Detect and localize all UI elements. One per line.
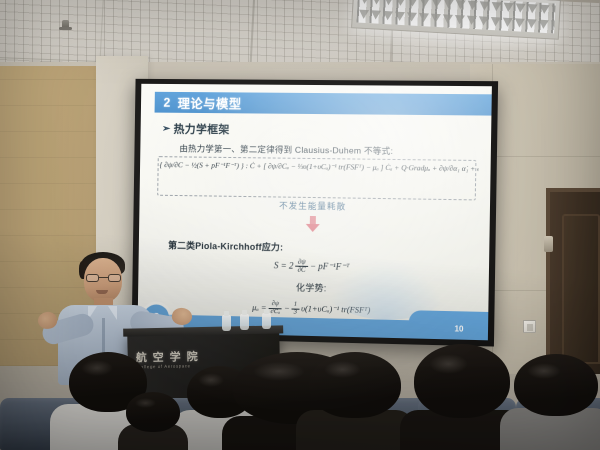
- louver-blade: [479, 1, 489, 11]
- louver-blade: [478, 16, 488, 26]
- door-handle-icon[interactable]: [544, 236, 553, 252]
- audience-person-head: [414, 344, 510, 418]
- louver-blade: [407, 0, 417, 7]
- louver-blade: [503, 3, 513, 13]
- louver-blade: [455, 0, 465, 10]
- slide-bullet-heading: 热力学框架: [174, 121, 230, 137]
- louver-blade: [502, 18, 512, 28]
- louver-blade: [383, 0, 393, 5]
- louver-blade: [454, 15, 464, 25]
- louver-blade: [550, 20, 555, 30]
- glasses-icon: [86, 274, 121, 282]
- louver-blade: [526, 19, 536, 29]
- door-panel: [562, 214, 600, 364]
- louver-blade: [395, 12, 405, 22]
- louver-blade: [490, 17, 500, 27]
- louver-blade: [527, 4, 537, 14]
- attendee-6: [500, 352, 600, 450]
- louver-blade: [539, 5, 549, 15]
- louver-blade: [431, 0, 441, 8]
- louver-blade: [418, 13, 428, 23]
- glasses-bridge: [99, 277, 108, 278]
- bullet-arrow-icon: ➢: [162, 123, 171, 134]
- louver-blade: [419, 0, 429, 8]
- slide-footer-riser: [409, 310, 489, 340]
- slide-title: 理论与模型: [178, 93, 242, 112]
- slide-bullet-heading-row: ➢ 热力学框架: [162, 121, 230, 138]
- water-bottle: [222, 315, 231, 331]
- hair-highlight: [198, 373, 224, 387]
- louver-blade: [359, 0, 369, 4]
- louver-blade: [514, 18, 524, 28]
- hair-highlight: [135, 398, 157, 408]
- louver-blade: [467, 1, 477, 11]
- audience-person-head: [309, 352, 401, 418]
- hair-highlight: [81, 360, 112, 376]
- room-door[interactable]: [546, 188, 600, 374]
- pk-fraction: ∂ψ ∂C: [296, 259, 308, 275]
- dissipation-note: 不发生能量耗散: [139, 197, 490, 214]
- louver-blade: [407, 12, 417, 22]
- water-bottle: [262, 313, 271, 329]
- lecture-hall-scene: 2 理论与模型 ➢ 热力学框架 由热力学第一、第二定律得到 Clausius-D…: [0, 0, 600, 450]
- louver-blade: [491, 2, 501, 12]
- louver-blade: [371, 0, 381, 5]
- louver-blade: [395, 0, 405, 6]
- chem-frac2-denominator: 3: [292, 309, 299, 316]
- audience-person-head: [126, 392, 180, 432]
- louver-blade: [443, 0, 453, 9]
- water-bottle: [240, 314, 249, 330]
- louver-blade: [442, 14, 452, 24]
- audience-area: [0, 352, 600, 450]
- slide-title-bar: 2 理论与模型: [155, 92, 492, 116]
- louver-blade: [383, 11, 393, 21]
- presenter-collar-right: [108, 306, 117, 320]
- slide-section-number: 2: [163, 95, 171, 109]
- louver-blade: [371, 10, 381, 20]
- chem-minus: −: [284, 304, 290, 313]
- sprinkler-icon: [62, 20, 69, 29]
- glasses-lens-left: [86, 274, 99, 282]
- light-louvers: [356, 0, 555, 34]
- light-switch[interactable]: [523, 320, 536, 333]
- louver-blade: [466, 16, 476, 26]
- attendee-7: [118, 352, 188, 450]
- louver-blade: [515, 3, 525, 13]
- louver-blade: [551, 5, 556, 15]
- attendee-4: [296, 352, 414, 450]
- slide-intro-line: 由热力学第一、第二定律得到 Clausius-Duhem 不等式:: [179, 143, 393, 157]
- hair-highlight: [527, 363, 561, 379]
- pk-lhs: S = 2: [274, 260, 294, 270]
- hair-highlight: [429, 354, 467, 373]
- arrow-head: [305, 224, 319, 232]
- louver-blade: [538, 20, 548, 30]
- louver-blade: [430, 14, 440, 24]
- chem-fraction-2: 1 3: [292, 302, 299, 317]
- slide-page-number: 10: [454, 324, 463, 333]
- glasses-lens-right: [108, 274, 121, 282]
- hair-highlight: [324, 361, 361, 378]
- audience-person-head: [514, 354, 598, 416]
- pk-frac-denominator: ∂C: [296, 267, 308, 275]
- louver-blade: [359, 10, 369, 20]
